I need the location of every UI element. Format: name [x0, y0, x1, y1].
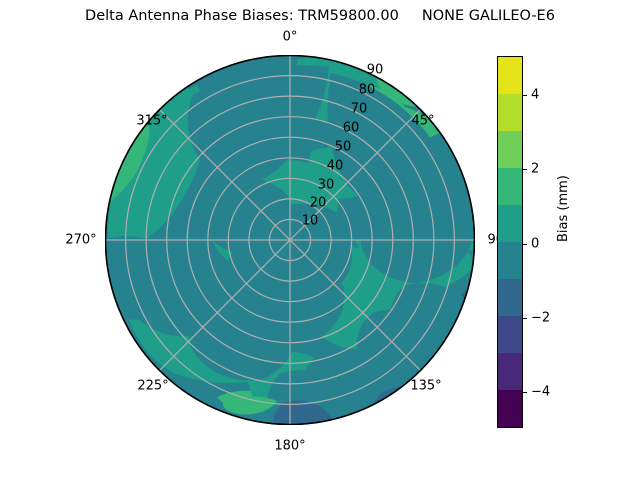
angular-tick-180: 180°	[274, 439, 305, 454]
colorbar-segment-2	[498, 131, 522, 168]
polar-plot[interactable]: 0° 45° 90° 135° 180° 225° 270° 315° 10 2…	[105, 55, 475, 425]
radial-tick-80: 80	[359, 83, 376, 98]
colorbar-tick-mark-4	[523, 95, 527, 96]
colorbar-segment-0	[498, 57, 522, 94]
colorbar-tick-label-m2: −2	[531, 311, 550, 326]
colorbar-segment-4	[498, 205, 522, 242]
radial-tick-50: 50	[335, 140, 352, 155]
colorbar-tick-label-0: 0	[531, 237, 539, 252]
angular-tick-45: 45°	[411, 114, 434, 129]
colorbar-segment-1	[498, 94, 522, 131]
colorbar-segment-5	[498, 242, 522, 279]
colorbar-tick-label-m4: −4	[531, 385, 550, 400]
colorbar-tick-mark-m2	[523, 318, 527, 319]
colorbar-axis-label: Bias (mm)	[556, 175, 571, 242]
colorbar-segment-8	[498, 353, 522, 390]
radial-tick-70: 70	[351, 102, 368, 117]
colorbar-tick-label-2: 2	[531, 162, 539, 177]
angular-tick-225: 225°	[137, 379, 168, 394]
colorbar-segment-6	[498, 279, 522, 316]
colorbar-tick-mark-m4	[523, 392, 527, 393]
radial-tick-60: 60	[343, 121, 360, 136]
radial-tick-40: 40	[327, 159, 344, 174]
radial-tick-30: 30	[318, 178, 335, 193]
colorbar-tick-mark-0	[523, 244, 527, 245]
radial-tick-10: 10	[302, 214, 319, 229]
colorbar-tick-label-4: 4	[531, 88, 539, 103]
figure-canvas: Delta Antenna Phase Biases: TRM59800.00 …	[0, 0, 640, 480]
radial-tick-90: 90	[367, 63, 384, 78]
page-title: Delta Antenna Phase Biases: TRM59800.00 …	[0, 8, 640, 24]
angular-tick-135: 135°	[410, 379, 441, 394]
colorbar-gradient	[497, 56, 523, 428]
radial-tick-20: 20	[310, 196, 327, 211]
angular-tick-315: 315°	[136, 114, 167, 129]
angular-tick-0: 0°	[283, 30, 298, 45]
colorbar-tick-mark-2	[523, 169, 527, 170]
colorbar-segment-7	[498, 316, 522, 353]
polar-grid-spokes	[105, 55, 475, 425]
polar-contour-svg	[105, 55, 475, 425]
angular-tick-270: 270°	[65, 233, 96, 248]
colorbar-segment-9	[498, 390, 522, 427]
colorbar[interactable]: 4 2 0 −2 −4	[497, 56, 523, 428]
colorbar-segment-3	[498, 168, 522, 205]
